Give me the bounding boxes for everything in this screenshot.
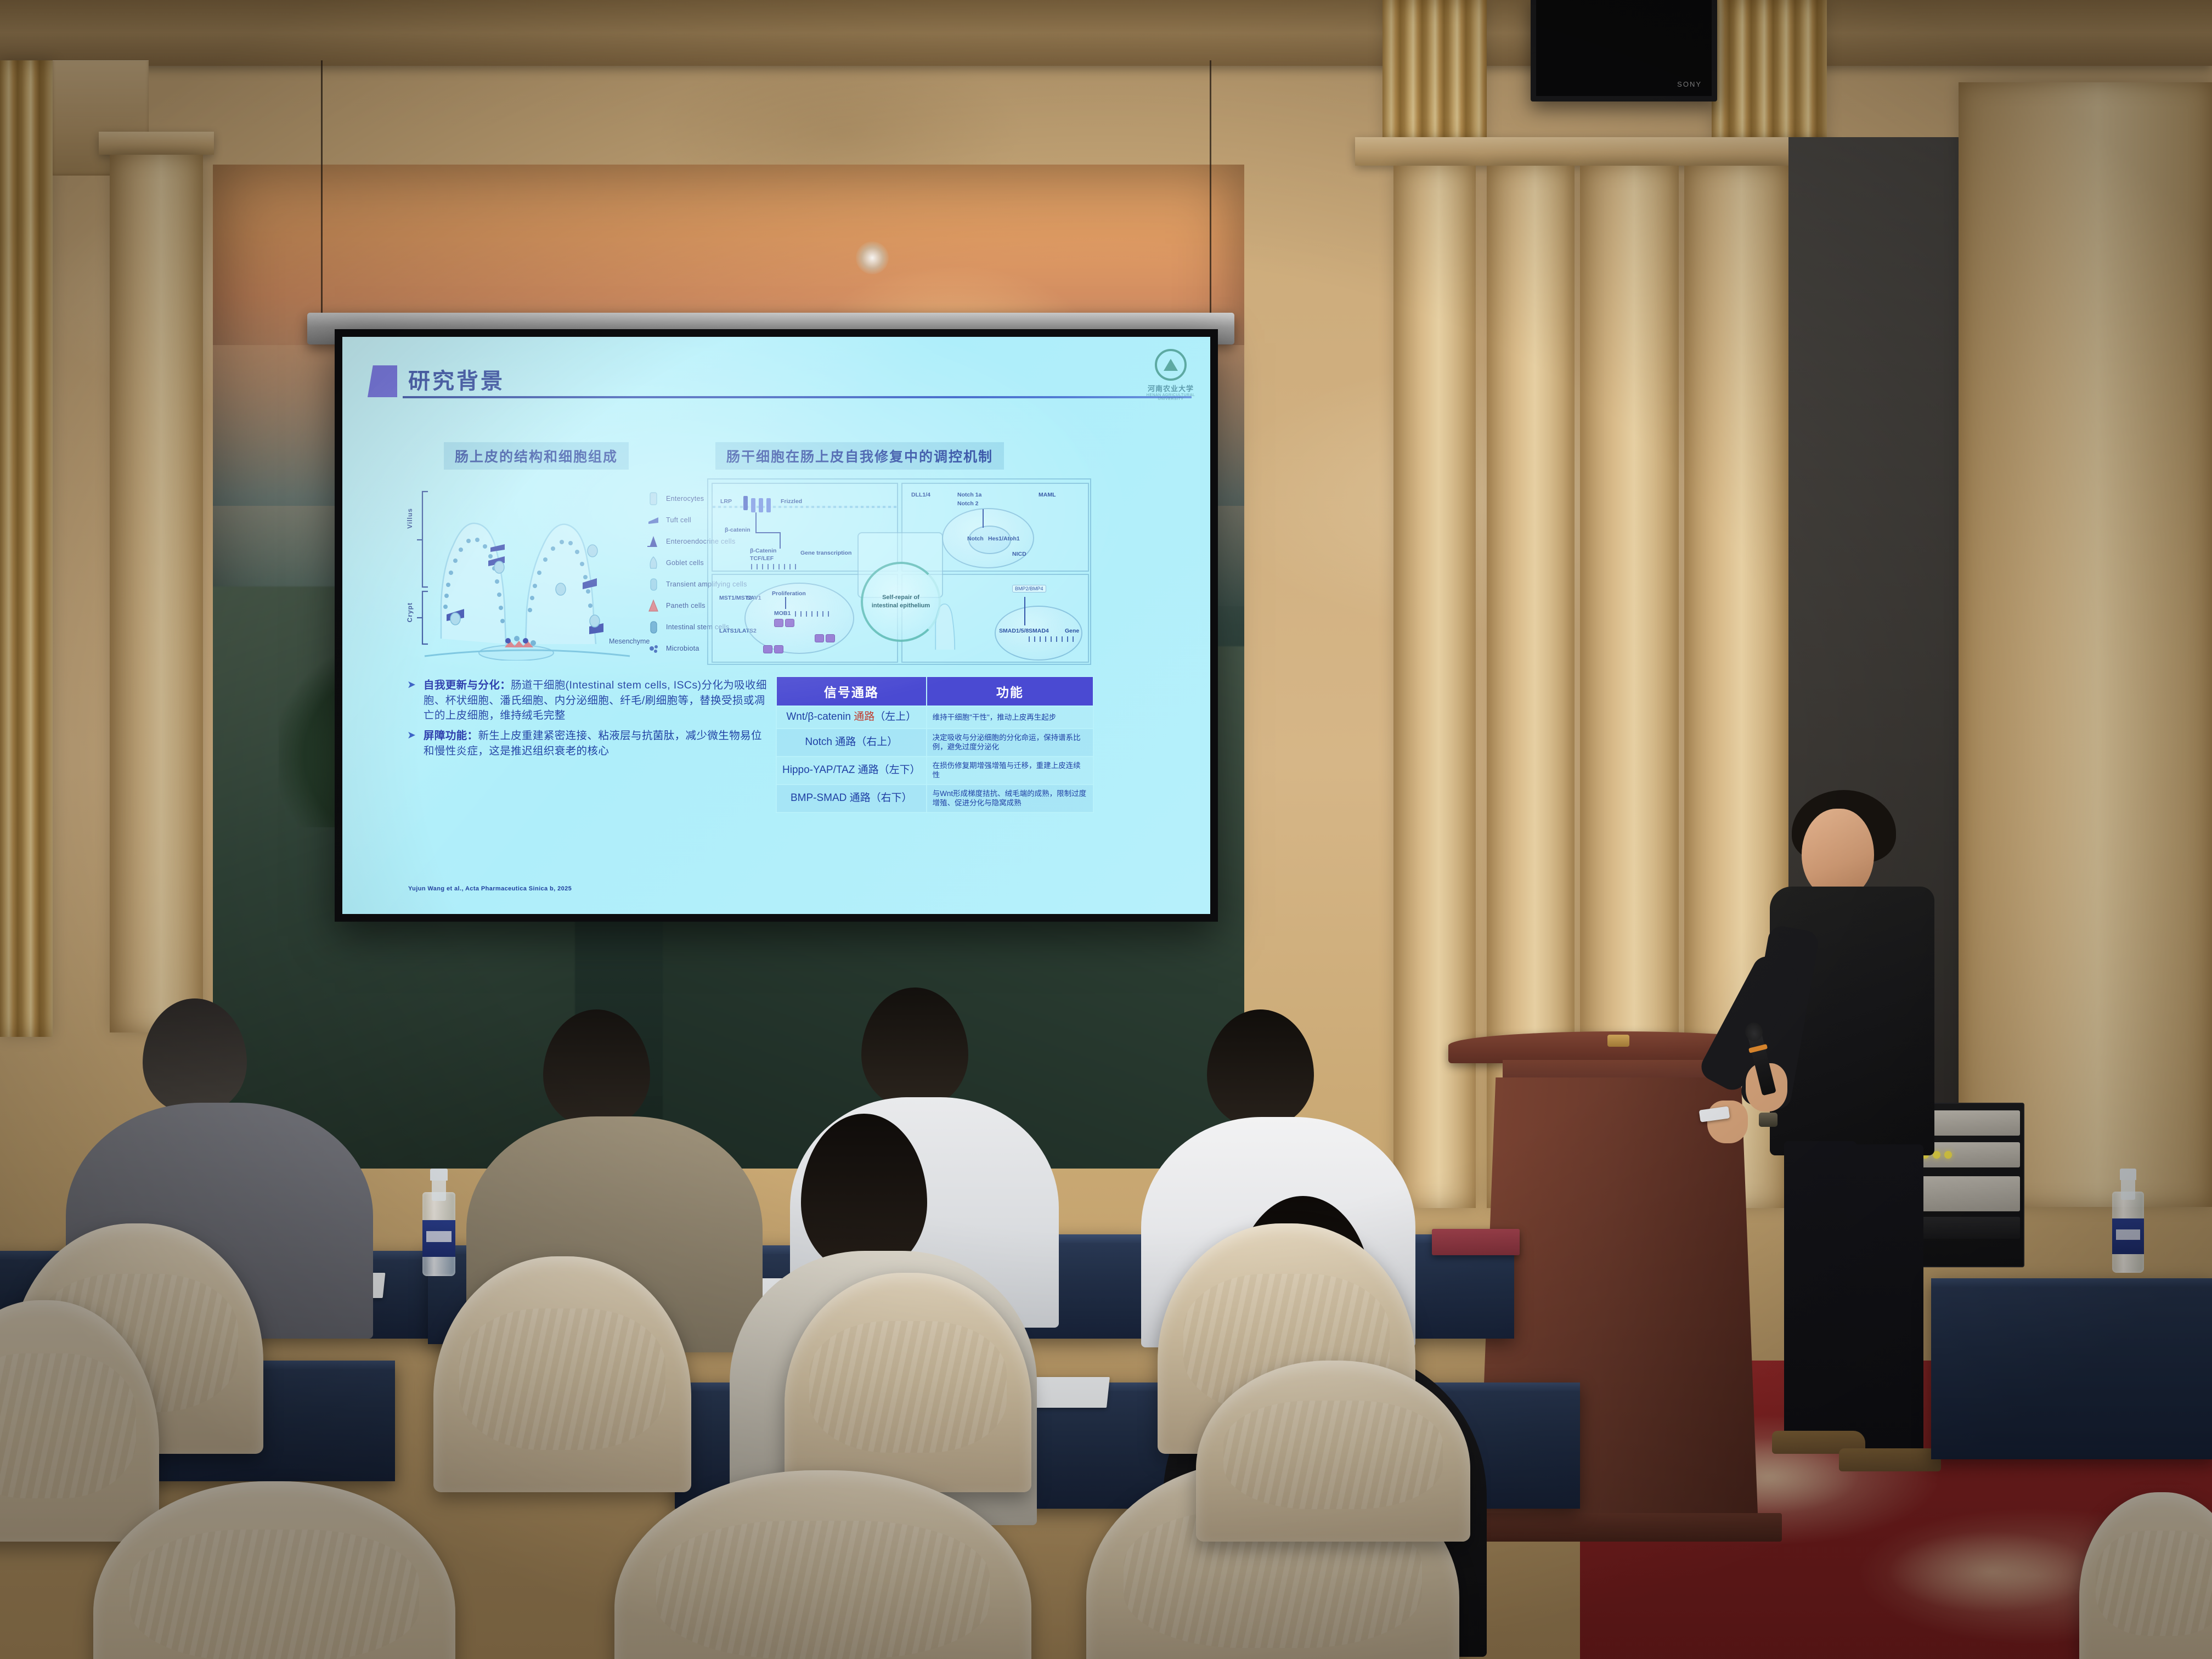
taz-box-icon <box>785 619 794 627</box>
pathway-tag: LRP <box>720 498 732 505</box>
tuft-cell-icon <box>647 513 659 527</box>
table-row: Hippo-YAP/TAZ 通路（左下） 在损伤修复期增强增殖与迁移，重建上皮连… <box>776 757 1093 785</box>
pathway-tag: MAML <box>1039 492 1056 498</box>
presenter-leg-left <box>1784 1141 1857 1448</box>
transient-amplifying-cell-icon <box>647 577 659 591</box>
presenter-shoe-right <box>1839 1448 1941 1471</box>
pathway-tag: Notch <box>967 535 984 542</box>
table-cell-function: 在损伤修复期增强增殖与迁移，重建上皮连续性 <box>927 757 1093 785</box>
bottle-label <box>2112 1218 2144 1254</box>
wall-pilaster-right-fluted <box>1383 0 1487 143</box>
wnt-receptor-icon-3 <box>759 498 763 512</box>
ceiling-light-reflection <box>856 241 889 274</box>
pathway-arrow <box>1024 597 1025 625</box>
pathway-tag: TCF/LEF <box>750 555 774 562</box>
pathway-tag: DLL1/4 <box>911 492 930 498</box>
pathway-tag: MOB1 <box>774 610 791 617</box>
bullet-text: 屏障功能：新生上皮重建紧密连接、粘液层与抗菌肽，减少微生物易位和慢性炎症，这是推… <box>424 729 769 759</box>
pathway-highlight: 通路 <box>858 764 879 776</box>
presenter <box>1745 790 1975 1613</box>
table-cell-pathway: Wnt/β-catenin 通路（左上） <box>776 706 927 729</box>
column-capital-left <box>99 132 214 155</box>
side-table-right <box>1931 1278 2212 1459</box>
yap-box-icon <box>774 619 783 627</box>
pathway-highlight: 通路 <box>835 736 856 748</box>
taz-box-icon <box>774 645 783 653</box>
yap-taz-complex-2 <box>815 634 835 642</box>
pathway-tag: Frizzled <box>781 498 802 505</box>
water-bottle <box>422 1169 455 1276</box>
table-cell-pathway: Notch 通路（右上） <box>776 729 927 757</box>
column-capital-right <box>1355 137 1832 166</box>
pathway-arrow <box>785 597 786 609</box>
cell-membrane <box>713 506 897 508</box>
pathway-arrow-2 <box>755 532 781 533</box>
pathway-position: （左下） <box>879 764 921 776</box>
mesenchyme-label: Mesenchyme <box>609 637 650 645</box>
pathway-tag: Gene <box>1065 628 1079 634</box>
bottle-cap <box>2120 1169 2136 1180</box>
axis-label-crypt: Crypt <box>406 602 414 622</box>
pathway-name: Hippo-YAP/TAZ <box>782 764 858 776</box>
wnt-receptor-icon-2 <box>751 498 755 512</box>
university-name-en: HENAN AGRICULTURAL UNIVERSITY <box>1145 393 1196 401</box>
table-surface <box>1931 1278 2212 1287</box>
wnt-receptor-icon <box>743 496 748 510</box>
tv-brand-label: SONY <box>1677 80 1702 88</box>
wall-mounted-tv: SONY <box>1531 0 1717 101</box>
pathway-tag: Notch 2 <box>957 500 979 507</box>
villus-crypt-diagram: Villus Crypt <box>408 479 644 661</box>
podium-neck <box>1503 1060 1734 1080</box>
pathway-highlight: 通路 <box>854 711 874 723</box>
pathway-arrow <box>983 509 984 528</box>
bullet-lead: 屏障功能： <box>424 730 478 742</box>
pathway-tag: SMAD1/5/8 <box>999 628 1029 634</box>
yap-box-icon <box>815 634 824 642</box>
villus-crypt-svg <box>408 479 644 661</box>
slide-title-row: 研究背景 <box>368 362 1188 404</box>
pathway-tag: Proliferation <box>772 590 806 597</box>
bottle-cap <box>430 1169 447 1181</box>
wnt-receptor-icon-4 <box>766 498 771 512</box>
paneth-cell-icon <box>647 599 659 613</box>
table-header-pathway: 信号通路 <box>776 676 927 706</box>
wall-pilaster-right-fluted-2 <box>1712 0 1827 143</box>
pathway-name: Notch <box>805 736 835 748</box>
pathway-function-table: 信号通路 功能 Wnt/β-catenin 通路（左上） 维持干细胞"干性"，推… <box>776 676 1094 813</box>
dna-strand-icon <box>793 611 831 617</box>
pathway-position: （右下） <box>871 792 912 804</box>
legend-label: Microbiota <box>666 645 699 652</box>
legend-label: Paneth cells <box>666 602 706 610</box>
bottle-label <box>422 1220 455 1257</box>
table-cell-pathway: Hippo-YAP/TAZ 通路（左下） <box>776 757 927 785</box>
legend-label: Enterocytes <box>666 495 704 503</box>
enteroendocrine-cell-icon <box>647 534 659 549</box>
legend-label: Tuft cell <box>666 516 691 524</box>
university-name: 河南农业大学 <box>1145 383 1196 393</box>
dna-strand-icon <box>1026 636 1074 642</box>
bullet-chevron-icon: ➤ <box>407 678 416 724</box>
screen-surface: 研究背景 河南农业大学 HENAN AGRICULTURAL UNIVERSIT… <box>342 337 1210 914</box>
goblet-cell-icon <box>647 556 659 570</box>
screen-hanging-wire-right <box>1210 60 1211 318</box>
table-row: BMP-SMAD 通路（右下） 与Wnt形成梯度拮抗、绒毛端的成熟，限制过度增殖… <box>776 785 1093 812</box>
table-header-row: 信号通路 功能 <box>776 676 1093 706</box>
wall-panel-far-right <box>1959 82 2212 1207</box>
pathway-position: （右上） <box>856 736 898 748</box>
presenter-leg-right <box>1847 1144 1923 1452</box>
pathway-name: Wnt/β-catenin <box>786 711 854 723</box>
title-marker-icon <box>368 365 397 397</box>
pathway-tag: β-catenin <box>725 527 751 533</box>
microphone-accent-ring <box>1748 1044 1768 1053</box>
table-cell-function: 与Wnt形成梯度拮抗、绒毛端的成熟，限制过度增殖、促进分化与隐窝成熟 <box>927 785 1093 812</box>
pathway-highlight: 通路 <box>850 792 871 804</box>
axis-label-villus: Villus <box>406 508 414 529</box>
pathway-arrow-3 <box>780 532 781 549</box>
presentation-slide: 研究背景 河南农业大学 HENAN AGRICULTURAL UNIVERSIT… <box>342 337 1210 914</box>
slide-citation: Yujun Wang et al., Acta Pharmaceutica Si… <box>408 885 572 892</box>
pathway-position: （左上） <box>874 711 916 723</box>
pathway-tag: Gene transcription <box>800 550 851 556</box>
enterocyte-icon <box>647 492 659 506</box>
table-cell-function: 决定吸收与分泌细胞的分化命运，保持谱系比例，避免过度分泌化 <box>927 729 1093 757</box>
table-row: Notch 通路（右上） 决定吸收与分泌细胞的分化命运，保持谱系比例，避免过度分… <box>776 729 1093 757</box>
intestinal-stem-cell-icon <box>647 620 659 634</box>
bullet-text: 自我更新与分化：肠道干细胞(Intestinal stem cells, ISC… <box>424 678 769 724</box>
table-cell-function: 维持干细胞"干性"，推动上皮再生起步 <box>927 706 1093 729</box>
pathway-arrow <box>755 512 757 532</box>
wall-panel-left-inner <box>110 155 203 1032</box>
yap-taz-complex <box>774 619 794 627</box>
pathway-tag: Hes1/Atoh1 <box>988 535 1020 542</box>
table-cell-pathway: BMP-SMAD 通路（右下） <box>776 785 927 812</box>
bottle-neck <box>432 1177 446 1201</box>
slide-bullets: ➤ 自我更新与分化：肠道干细胞(Intestinal stem cells, I… <box>407 678 769 764</box>
stacked-booklets <box>1432 1229 1520 1255</box>
wristwatch <box>1759 1113 1778 1127</box>
bottle-neck <box>2121 1177 2135 1200</box>
self-repair-center-label: Self-repair of intestinal epithelium <box>861 562 941 642</box>
bullet-lead: 自我更新与分化： <box>424 679 511 691</box>
pathway-tag: NICD <box>1012 551 1026 557</box>
pathway-tag: Notch 1a <box>957 492 981 498</box>
projection-screen: 研究背景 河南农业大学 HENAN AGRICULTURAL UNIVERSIT… <box>335 329 1218 922</box>
pathway-tag: β-Catenin <box>750 548 776 554</box>
screen-hanging-wire-left <box>321 60 323 318</box>
dna-strand-icon <box>749 564 798 569</box>
table-header-function: 功能 <box>927 676 1093 706</box>
pathway-tag: BMP2/BMP4 <box>1012 585 1046 592</box>
presenter-head <box>1802 809 1874 898</box>
legend-label: Goblet cells <box>666 559 704 567</box>
yap-box-icon <box>763 645 772 653</box>
table-row: Wnt/β-catenin 通路（左上） 维持干细胞"干性"，推动上皮再生起步 <box>776 706 1093 729</box>
left-panel-heading: 肠上皮的结构和细胞组成 <box>444 442 629 470</box>
podium-base <box>1455 1513 1781 1542</box>
podium-emblem-icon <box>1607 1035 1629 1047</box>
conference-room: SONY 研究背景 <box>0 0 2212 1659</box>
university-logo: 河南农业大学 HENAN AGRICULTURAL UNIVERSITY <box>1145 349 1196 401</box>
slide-title: 研究背景 <box>408 363 505 395</box>
yap-taz-complex-3 <box>763 645 783 653</box>
pathway-name: BMP-SMAD <box>791 792 850 804</box>
university-emblem-icon <box>1155 349 1187 381</box>
ceiling-soffit <box>0 0 2212 66</box>
bullet-item: ➤ 屏障功能：新生上皮重建紧密连接、粘液层与抗菌肽，减少微生物易位和慢性炎症，这… <box>407 729 769 759</box>
title-underline <box>403 396 1192 398</box>
water-bottle <box>2112 1169 2144 1273</box>
signaling-pathway-diagram: LRP Frizzled β-catenin β-Catenin TCF/LEF… <box>707 478 1091 665</box>
taz-box-icon <box>826 634 835 642</box>
bullet-chevron-icon: ➤ <box>407 729 416 759</box>
pathway-tag: SMAD4 <box>1029 628 1049 634</box>
wall-pilaster-left <box>0 60 53 1037</box>
right-panel-heading: 肠干细胞在肠上皮自我修复中的调控机制 <box>715 442 1004 470</box>
bullet-item: ➤ 自我更新与分化：肠道干细胞(Intestinal stem cells, I… <box>407 678 769 724</box>
